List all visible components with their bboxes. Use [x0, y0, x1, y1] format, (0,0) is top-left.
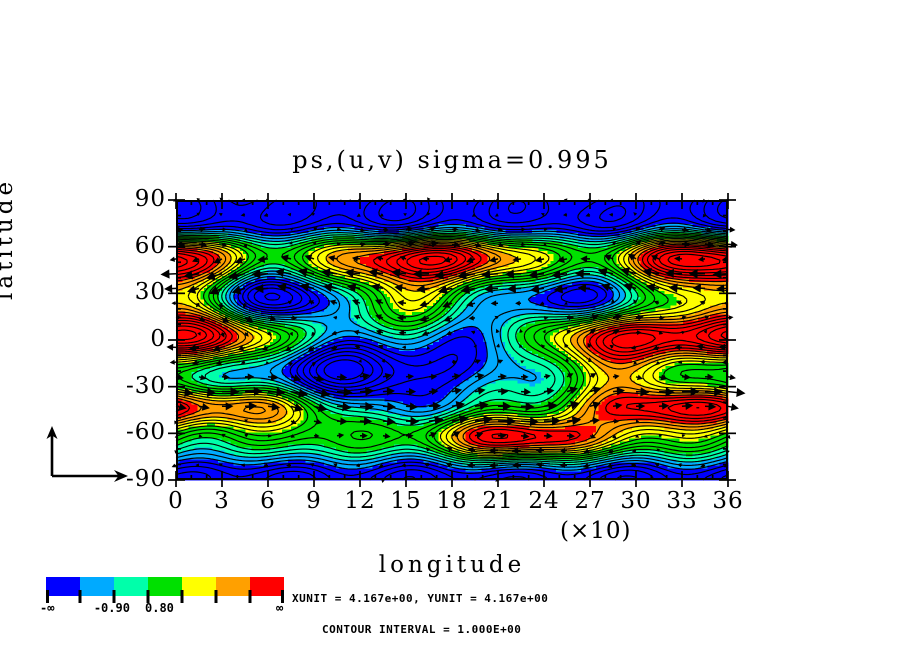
y-axis-label: latitude — [0, 178, 18, 300]
x-tick-label: 3 — [199, 490, 245, 513]
colorbar-tick-label: ∞ — [276, 601, 283, 615]
y-tick-label: 90 — [104, 188, 166, 211]
x-tick-label: 27 — [567, 490, 613, 513]
x-tick-label: 12 — [337, 490, 383, 513]
vector-reference-legend — [44, 420, 154, 482]
y-tick-label: 60 — [104, 235, 166, 258]
y-tick-label: 0 — [104, 328, 166, 351]
chart-title: ps,(u,v) sigma=0.995 — [176, 146, 728, 174]
units-annotation: XUNIT = 4.167e+00, YUNIT = 4.167e+00 — [292, 592, 548, 605]
x-tick-label: 9 — [291, 490, 337, 513]
x-axis-label: longitude — [176, 552, 728, 578]
x-tick-label: 24 — [521, 490, 567, 513]
contour-vector-plot — [176, 200, 728, 480]
x-tick-label: 36 — [705, 490, 751, 513]
colorbar-tick-label: 0.80 — [145, 601, 174, 615]
contour-interval-annotation: CONTOUR INTERVAL = 1.000E+00 — [322, 623, 521, 636]
y-tick-label: -30 — [104, 375, 166, 398]
x-tick-label: 33 — [659, 490, 705, 513]
x-tick-label: 18 — [429, 490, 475, 513]
x-tick-label: 6 — [245, 490, 291, 513]
plot-area — [176, 200, 728, 480]
plot-canvas: ps,(u,v) sigma=0.995 9060300-30-60-90 03… — [0, 0, 904, 654]
colorbar-tick-label: -0.90 — [94, 601, 130, 615]
x-tick-label: 30 — [613, 490, 659, 513]
colorbar-tick-label: -∞ — [40, 601, 54, 615]
x-tick-label: 0 — [153, 490, 199, 513]
x-tick-label: 15 — [383, 490, 429, 513]
x-tick-label: 21 — [475, 490, 521, 513]
colorbar-ticks — [46, 577, 284, 603]
y-tick-label: 30 — [104, 281, 166, 304]
x-axis-multiplier: (×10) — [560, 518, 740, 544]
